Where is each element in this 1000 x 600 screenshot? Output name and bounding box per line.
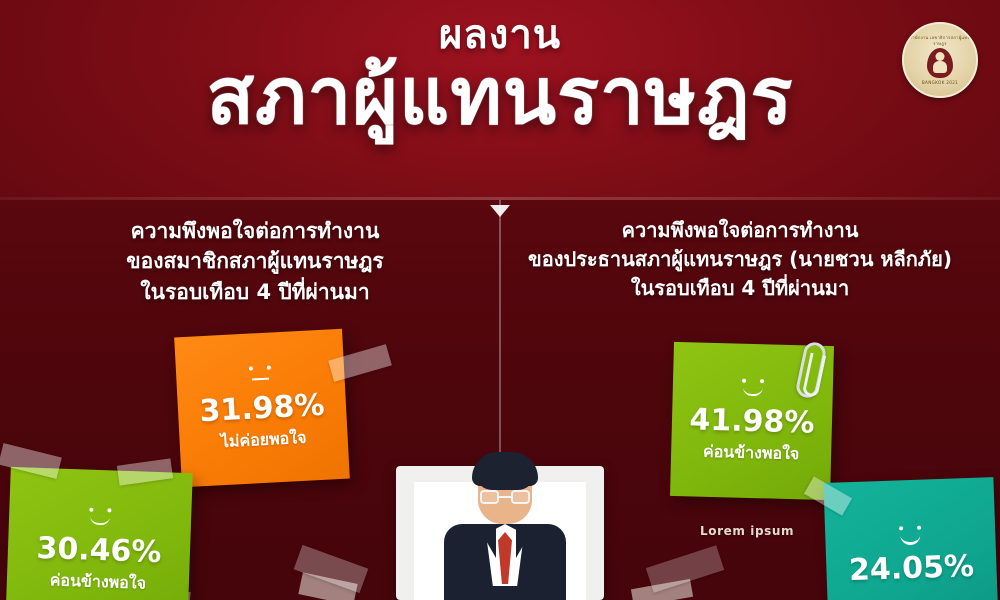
stat-percent: 24.05% bbox=[848, 551, 974, 587]
left-heading-line-2: ของสมาชิกสภาผู้แทนราษฎร bbox=[40, 246, 470, 276]
right-heading-line-3: ในรอบเทือบ 4 ปีที่ผ่านมา bbox=[500, 274, 980, 303]
stat-card-fairly-satisfied-mps: 30.46% ค่อนข้างพอใจ bbox=[5, 467, 192, 600]
person-hair bbox=[472, 452, 538, 486]
stat-percent: 30.46% bbox=[36, 533, 162, 569]
organization-logo: สำนักงาน เลขาธิการสภาผู้แทนราษฎร BANGKOK… bbox=[902, 22, 978, 98]
stat-label: ไม่ค่อยพอใจ bbox=[220, 425, 307, 454]
happy-face-icon bbox=[80, 505, 121, 530]
logo-bottom-text: BANGKOK 2021 bbox=[922, 80, 958, 85]
stat-card-not-very-satisfied-mps: 31.98% ไม่ค่อยพอใจ bbox=[174, 329, 350, 488]
stat-label: ค่อนข้างพอใจ bbox=[703, 439, 800, 467]
left-column-heading: ความพึงพอใจต่อการทำงาน ของสมาชิกสภาผู้แท… bbox=[40, 216, 470, 307]
lorem-caption: Lorem ipsum bbox=[700, 524, 794, 538]
emblem-icon bbox=[927, 48, 953, 78]
title-small: ผลงาน bbox=[0, 14, 1000, 56]
neutral-face-icon bbox=[240, 362, 281, 388]
very-happy-face-icon bbox=[890, 522, 931, 547]
person-illustration bbox=[430, 450, 580, 600]
page-title: ผลงาน สภาผู้แทนราษฎร bbox=[0, 14, 1000, 136]
stat-percent: 41.98% bbox=[689, 405, 815, 440]
happy-face-icon bbox=[733, 376, 774, 401]
right-heading-line-2: ของประธานสภาผู้แทนราษฎร (นายชวน หลีกภัย) bbox=[500, 245, 980, 274]
stat-card-satisfied-speaker: 24.05% bbox=[823, 477, 998, 600]
right-heading-line-1: ความพึงพอใจต่อการทำงาน bbox=[500, 216, 980, 245]
glasses-icon bbox=[480, 490, 530, 504]
infographic-canvas: ผลงาน สภาผู้แทนราษฎร สำนักงาน เลขาธิการส… bbox=[0, 0, 1000, 600]
stat-percent: 31.98% bbox=[199, 390, 325, 428]
title-big: สภาผู้แทนราษฎร bbox=[0, 58, 1000, 136]
left-heading-line-1: ความพึงพอใจต่อการทำงาน bbox=[40, 216, 470, 246]
stat-label: ค่อนข้างพอใจ bbox=[49, 568, 146, 596]
logo-top-text: สำนักงาน เลขาธิการสภาผู้แทนราษฎร bbox=[905, 35, 975, 45]
left-heading-line-3: ในรอบเทือบ 4 ปีที่ผ่านมา bbox=[40, 277, 470, 307]
right-column-heading: ความพึงพอใจต่อการทำงาน ของประธานสภาผู้แท… bbox=[500, 216, 980, 303]
